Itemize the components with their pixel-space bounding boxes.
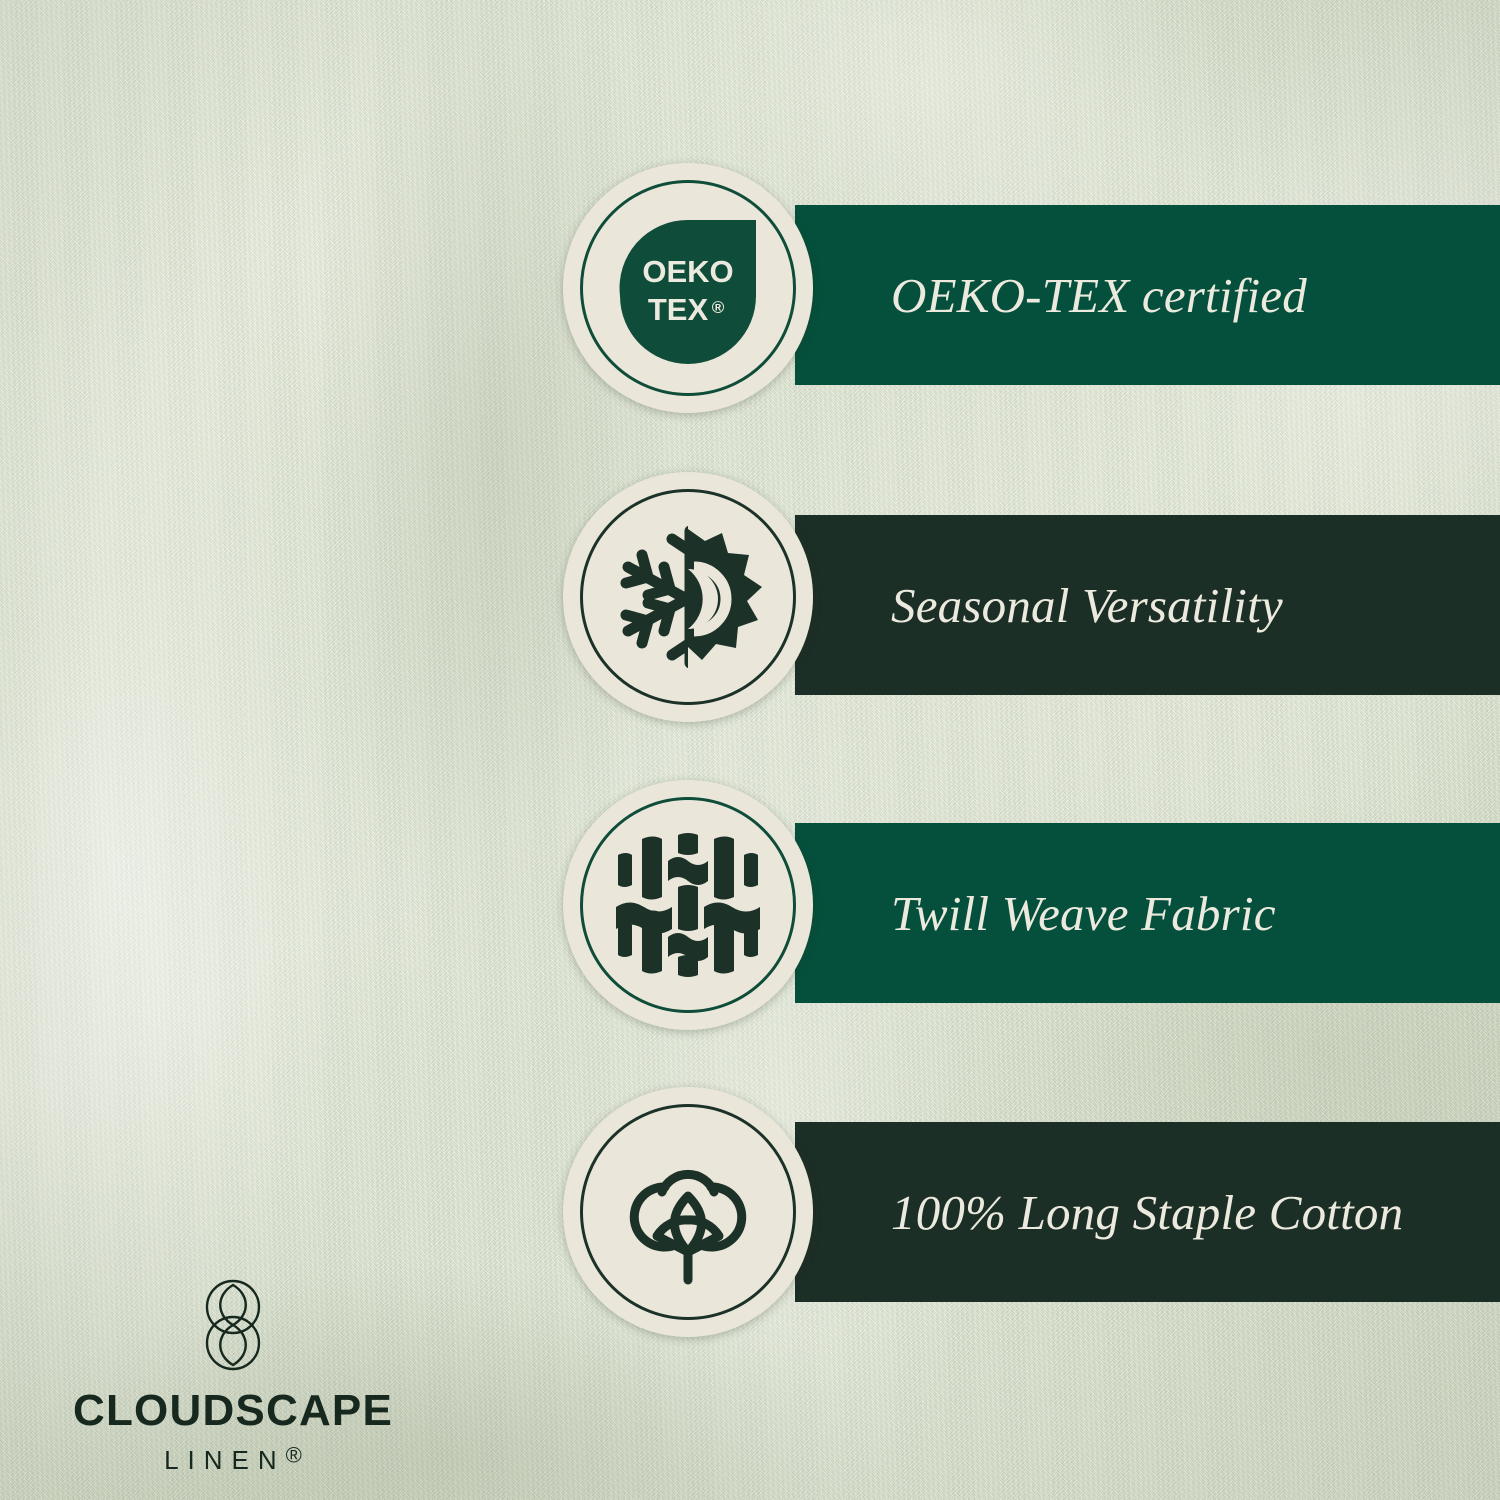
feature-label: 100% Long Staple Cotton (891, 1188, 1403, 1237)
interlocking-circles-logo-icon (190, 1277, 276, 1373)
brand-logo: CLOUDSCAPE LINEN® (73, 1277, 393, 1474)
feature-badge (563, 472, 813, 722)
tex-label: TEX (648, 292, 709, 327)
oeko-label: OEKO (642, 254, 733, 289)
product-feature-infographic: OEKO-TEX certified OEKO TEX ® Seasonal V… (0, 0, 1500, 1500)
feature-band: 100% Long Staple Cotton (795, 1122, 1500, 1302)
registered-trademark-icon: ® (286, 1443, 302, 1468)
cotton-boll-icon (563, 1087, 813, 1337)
snowflake-sun-icon (563, 472, 813, 722)
feature-badge: OEKO TEX ® (563, 163, 813, 413)
feature-badge (563, 1087, 813, 1337)
feature-label: OEKO-TEX certified (891, 271, 1307, 320)
feature-label: Seasonal Versatility (891, 581, 1283, 630)
feature-label: Twill Weave Fabric (891, 889, 1276, 938)
feature-band: OEKO-TEX certified (795, 205, 1500, 385)
registered-mark: ® (712, 298, 725, 317)
brand-subtitle: LINEN (164, 1447, 286, 1473)
feature-badge (563, 780, 813, 1030)
feature-band: Twill Weave Fabric (795, 823, 1500, 1003)
brand-name: CLOUDSCAPE (73, 1389, 393, 1433)
feature-band: Seasonal Versatility (795, 515, 1500, 695)
woven-weave-icon (563, 780, 813, 1030)
oeko-tex-droplet-icon: OEKO TEX ® (563, 163, 813, 413)
